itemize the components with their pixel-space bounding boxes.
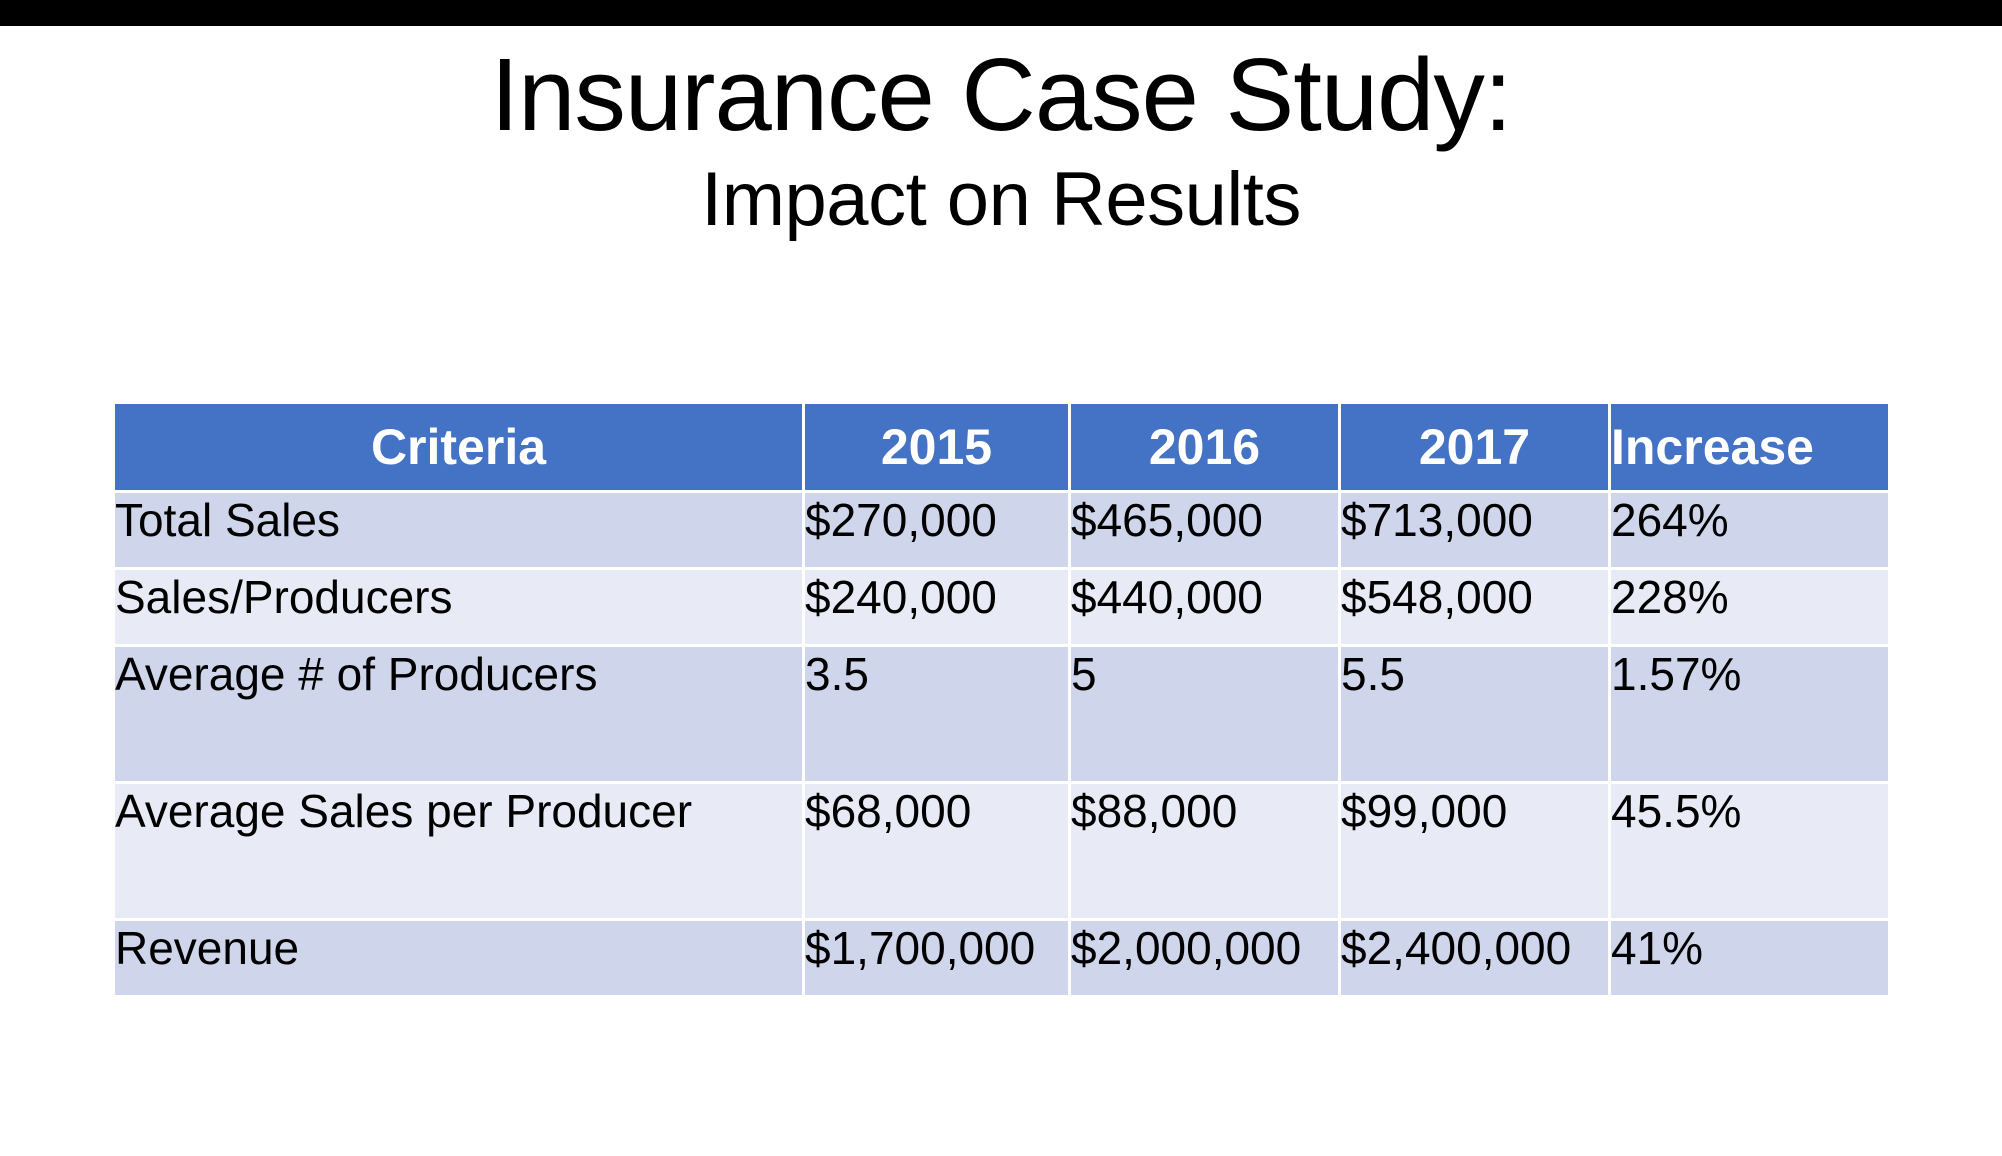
cell-2016: $88,000 [1071,784,1341,921]
page-title: Insurance Case Study: [0,40,2002,149]
cell-2015: 3.5 [805,647,1071,784]
cell-increase: 1.57% [1611,647,1888,784]
cell-2016: $2,000,000 [1071,921,1341,998]
cell-increase: 228% [1611,570,1888,647]
cell-2017: $2,400,000 [1341,921,1611,998]
cell-criteria: Total Sales [115,493,805,570]
column-header-2016[interactable]: 2016 [1071,404,1341,493]
cell-criteria: Revenue [115,921,805,998]
cell-increase: 264% [1611,493,1888,570]
table-row: Total Sales $270,000 $465,000 $713,000 2… [115,493,1888,570]
cell-2016: 5 [1071,647,1341,784]
cell-increase: 41% [1611,921,1888,998]
cell-2017: 5.5 [1341,647,1611,784]
table-header-row: Criteria 2015 2016 2017 Increase [115,404,1888,493]
cell-2016: $465,000 [1071,493,1341,570]
cell-2016: $440,000 [1071,570,1341,647]
table-row: Revenue $1,700,000 $2,000,000 $2,400,000… [115,921,1888,998]
slide-canvas: Insurance Case Study: Impact on Results … [0,0,2002,1156]
table-row: Sales/Producers $240,000 $440,000 $548,0… [115,570,1888,647]
cell-increase: 45.5% [1611,784,1888,921]
results-table: Criteria 2015 2016 2017 Increase Total S… [115,404,1888,998]
slide-top-black-band [0,0,2002,26]
table-row: Average Sales per Producer $68,000 $88,0… [115,784,1888,921]
cell-criteria: Average # of Producers [115,647,805,784]
cell-2017: $548,000 [1341,570,1611,647]
cell-2015: $270,000 [805,493,1071,570]
column-header-criteria[interactable]: Criteria [115,404,805,493]
cell-2015: $240,000 [805,570,1071,647]
page-subtitle: Impact on Results [0,155,2002,245]
column-header-2017[interactable]: 2017 [1341,404,1611,493]
column-header-2015[interactable]: 2015 [805,404,1071,493]
cell-2017: $713,000 [1341,493,1611,570]
slide-title-block: Insurance Case Study: Impact on Results [0,40,2002,245]
cell-2017: $99,000 [1341,784,1611,921]
table-row: Average # of Producers 3.5 5 5.5 1.57% [115,647,1888,784]
cell-criteria: Sales/Producers [115,570,805,647]
cell-2015: $1,700,000 [805,921,1071,998]
cell-2015: $68,000 [805,784,1071,921]
column-header-increase[interactable]: Increase [1611,404,1888,493]
cell-criteria: Average Sales per Producer [115,784,805,921]
